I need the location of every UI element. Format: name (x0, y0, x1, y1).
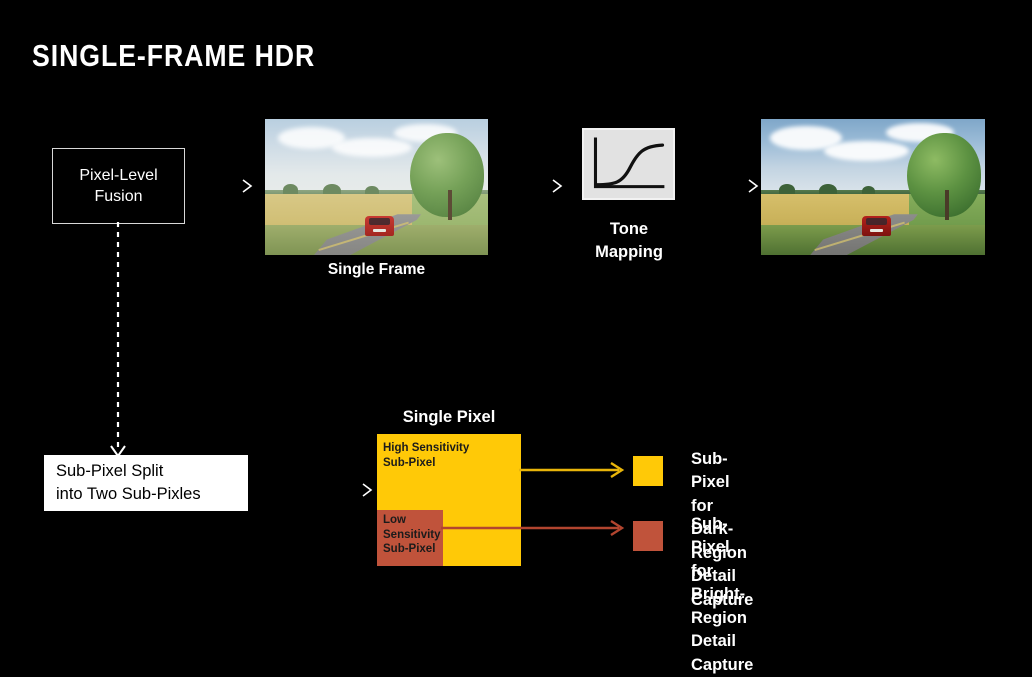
single-frame-caption: Single Frame (265, 261, 488, 279)
red-car (365, 216, 394, 236)
red-connector-arrow (441, 519, 629, 537)
arrow-tone-mapping-to-output (704, 177, 764, 195)
page-title: SINGLE-FRAME HDR (32, 38, 315, 74)
car-plate (870, 229, 883, 232)
yellow-connector-arrow (519, 461, 629, 479)
high-sensitivity-sub-pixel-label: High Sensitivity Sub-Pixel (383, 441, 515, 470)
low-sensitivity-sub-pixel-label: Low Sensitivity Sub-Pixel (383, 513, 445, 557)
car-plate (373, 229, 386, 232)
large-tree (907, 133, 981, 217)
tone-mapping-curve-icon (582, 128, 675, 200)
diagram-canvas: SINGLE-FRAME HDR Pixel-Level Fusion (0, 0, 1032, 626)
tree-trunk (945, 190, 949, 220)
legend-swatch-bright-region (633, 521, 663, 551)
arrow-split-to-single-pixel (258, 481, 378, 499)
sub-pixel-split-box: Sub-Pixel Split into Two Sub-Pixles (44, 455, 248, 511)
cloud (824, 141, 909, 161)
hdr-output-photo (761, 119, 985, 255)
dashed-connector-arrow (104, 222, 132, 460)
single-pixel-title: Single Pixel (377, 408, 521, 427)
arrow-fusion-to-frame (198, 177, 258, 195)
large-tree (410, 133, 484, 217)
legend-swatch-dark-region (633, 456, 663, 486)
single-frame-photo (265, 119, 488, 255)
legend-label-bright-region: Sub-Pixel for Bright-Region Detail Captu… (691, 513, 753, 677)
arrow-frame-to-tone-mapping (508, 177, 568, 195)
tree-trunk (448, 190, 452, 220)
car-window (369, 218, 390, 225)
sub-pixel-split-label: Sub-Pixel Split into Two Sub-Pixles (56, 460, 201, 506)
tone-mapping-label: Tone Mapping (560, 218, 698, 264)
cloud (332, 138, 412, 157)
pixel-level-fusion-label: Pixel-Level Fusion (79, 165, 157, 207)
red-car (862, 216, 891, 236)
pixel-level-fusion-box: Pixel-Level Fusion (52, 148, 185, 224)
car-window (866, 218, 887, 225)
